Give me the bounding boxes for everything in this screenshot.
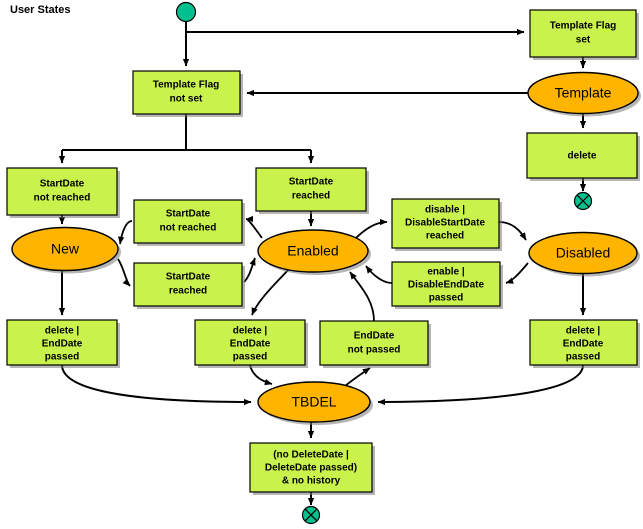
diagram-canvas: User States (0, 0, 643, 529)
end-node-template (575, 193, 592, 210)
node-label-line3: passed (566, 352, 600, 363)
node-state-tbdel-label: TBDEL (291, 394, 336, 410)
node-state-tbdel[interactable]: TBDEL (258, 382, 373, 425)
node-label-line1: delete | (45, 326, 80, 337)
node-label-line2: EndDate (230, 339, 271, 350)
node-label-line1: Template Flag (550, 21, 617, 32)
node-state-template[interactable]: Template (528, 73, 641, 117)
edge-sdnr-mid-to-new (120, 221, 132, 244)
node-startdate-reached-center-box (256, 168, 366, 211)
node-label-line3: reached (426, 231, 464, 242)
start-node (177, 3, 196, 22)
node-state-enabled[interactable]: Enabled (258, 230, 371, 275)
node-label-line3: passed (233, 352, 267, 363)
node-label-line1: Template Flag (153, 80, 220, 91)
node-startdate-reached-center[interactable]: StartDate reached (256, 168, 369, 214)
node-label-line1: StartDate (166, 209, 211, 220)
node-label-line3: passed (45, 352, 79, 363)
node-label-line3: & no history (282, 476, 341, 487)
node-label-line1: StartDate (166, 272, 211, 283)
node-delete-enddate-passed-disabled[interactable]: delete | EndDate passed (530, 320, 640, 368)
node-startdate-reached-mid-box (134, 263, 242, 306)
end-node-tbdel (303, 507, 320, 524)
node-label-line1: disable | (425, 205, 465, 216)
node-enable-disableenddate-passed[interactable]: enable | DisableEndDate passed (392, 262, 503, 309)
page-title: User States (10, 4, 71, 16)
node-delete-template-label: delete (568, 151, 597, 162)
edge-enddate-not-passed-to-enabled (350, 272, 374, 321)
node-disable-startdate-reached[interactable]: disable | DisableStartDate reached (392, 199, 502, 251)
node-label-line1: EndDate (354, 331, 395, 342)
node-label-line2: not reached (34, 193, 91, 204)
start-node-circle (177, 3, 196, 22)
node-label-line1: enable | (427, 267, 464, 278)
edge-enable-to-enabled (366, 266, 392, 283)
edge-enabled-to-disable (355, 222, 387, 239)
node-template-flag-set-box (530, 10, 636, 57)
node-template-flag-not-set-box (133, 71, 240, 114)
node-startdate-not-reached-mid-box (134, 200, 242, 243)
user-states-diagram: User States (0, 0, 643, 529)
node-label-line2: EndDate (563, 339, 604, 350)
node-state-disabled[interactable]: Disabled (529, 233, 640, 277)
node-state-enabled-label: Enabled (287, 243, 338, 259)
node-delete-enddate-passed-new[interactable]: delete | EndDate passed (7, 320, 120, 368)
node-startdate-reached-mid[interactable]: StartDate reached (134, 263, 245, 309)
node-delete-enddate-passed-enabled[interactable]: delete | EndDate passed (195, 320, 308, 368)
node-label-line1: StartDate (40, 179, 85, 190)
node-enddate-not-passed-box (320, 321, 428, 365)
node-template-flag-not-set[interactable]: Template Flag not set (133, 71, 243, 117)
node-startdate-not-reached-left-box (7, 168, 117, 215)
node-label-line1: delete | (566, 326, 601, 337)
edge-new-to-sdr-mid (118, 259, 130, 286)
node-startdate-not-reached-left[interactable]: StartDate not reached (7, 168, 120, 218)
node-template-flag-set[interactable]: Template Flag set (530, 10, 639, 60)
node-no-deletedate[interactable]: (no DeleteDate | DeleteDate passed) & no… (250, 443, 375, 495)
node-label-line1: delete | (233, 326, 268, 337)
edge-del-disabled-to-tbdel (378, 365, 583, 402)
node-label-line2: not reached (160, 223, 217, 234)
node-startdate-not-reached-mid[interactable]: StartDate not reached (134, 200, 245, 246)
node-delete-template[interactable]: delete (527, 133, 640, 181)
edge-disable-to-disabled (499, 222, 526, 240)
node-label-line2: set (576, 35, 591, 46)
node-label-line2: EndDate (42, 339, 83, 350)
node-state-new[interactable]: New (12, 228, 121, 274)
edge-enabled-to-sdnr-mid (246, 219, 262, 238)
node-label-line1: StartDate (289, 177, 334, 188)
node-label-line2: DisableStartDate (405, 218, 485, 229)
node-enddate-not-passed[interactable]: EndDate not passed (320, 321, 431, 368)
node-label-line2: DeleteDate passed) (265, 463, 357, 474)
node-label-line1: (no DeleteDate | (273, 450, 349, 461)
edge-enabled-to-del (252, 268, 290, 315)
node-label-line2: reached (169, 286, 207, 297)
node-label-line2: reached (292, 191, 330, 202)
node-state-new-label: New (51, 241, 80, 257)
node-state-template-label: Template (555, 85, 612, 101)
edge-sdr-mid-to-enabled (244, 258, 255, 282)
node-label-line3: passed (429, 293, 463, 304)
node-label-line2: not set (170, 94, 203, 105)
edge-del-new-to-tbdel (62, 365, 251, 402)
edge-disabled-to-enable (506, 263, 528, 283)
node-label-line2: not passed (348, 345, 401, 356)
node-label-line2: DisableEndDate (408, 280, 485, 291)
edge-tbdel-to-enddate-not-passed (345, 368, 370, 386)
node-state-disabled-label: Disabled (556, 245, 610, 261)
